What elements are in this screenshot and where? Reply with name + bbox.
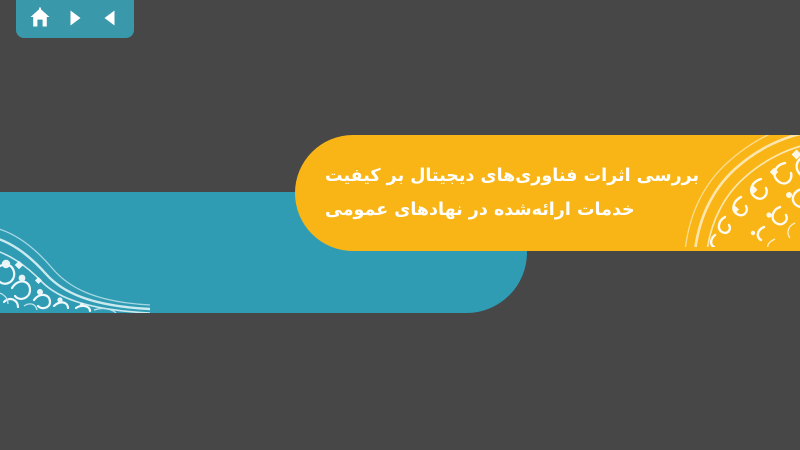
home-slide-button[interactable] — [27, 5, 53, 31]
title-line-2: خدمات ارائه‌شده در نهادهای عمومی — [325, 193, 635, 227]
next-slide-button[interactable] — [62, 5, 88, 31]
triangle-right-icon — [65, 8, 85, 28]
title-line-1: بررسی اثرات فناوری‌های دیجیتال بر کیفیت — [325, 159, 699, 193]
triangle-left-icon — [100, 8, 120, 28]
home-icon — [29, 7, 51, 29]
title-banner: بررسی اثرات فناوری‌های دیجیتال بر کیفیت … — [295, 135, 800, 251]
slide-navigation-toolbar — [16, 0, 134, 38]
presentation-slide: بررسی اثرات فناوری‌های دیجیتال بر کیفیت … — [0, 0, 800, 450]
previous-slide-button[interactable] — [97, 5, 123, 31]
arabesque-ornament-icon — [0, 208, 150, 313]
